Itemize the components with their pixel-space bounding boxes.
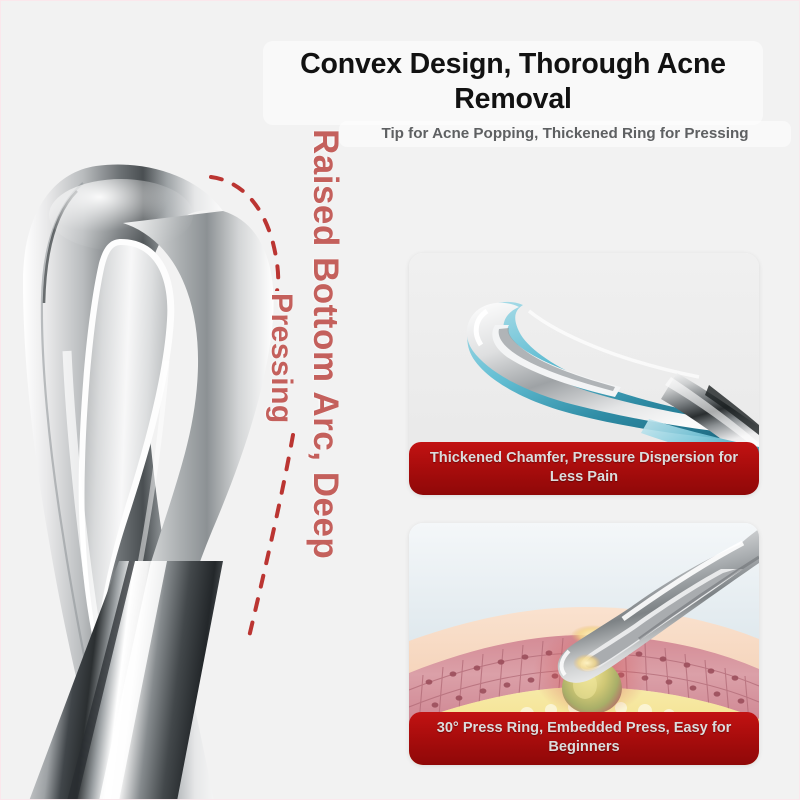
hero-callout-line-1: Raised Bottom Arc, Deep	[305, 129, 345, 559]
product-feature-graphic: Convex Design, Thorough Acne Removal Tip…	[0, 0, 800, 800]
card-caption-press-ring: 30° Press Ring, Embedded Press, Easy for…	[409, 712, 759, 765]
card-caption-thickened-chamfer: Thickened Chamfer, Pressure Dispersion f…	[409, 442, 759, 495]
hero-product-image	[0, 111, 331, 800]
hero-callout-line-2: Pressing	[264, 293, 298, 424]
page-title: Convex Design, Thorough Acne Removal	[273, 47, 753, 117]
feature-card-press-ring[interactable]: 30° Press Ring, Embedded Press, Easy for…	[409, 523, 759, 765]
feature-card-thickened-chamfer[interactable]: Thickened Chamfer, Pressure Dispersion f…	[409, 253, 759, 495]
subheadline-panel: Tip for Acne Popping, Thickened Ring for…	[339, 121, 791, 147]
headline-panel: Convex Design, Thorough Acne Removal	[263, 41, 763, 125]
page-subtitle: Tip for Acne Popping, Thickened Ring for…	[345, 124, 785, 144]
